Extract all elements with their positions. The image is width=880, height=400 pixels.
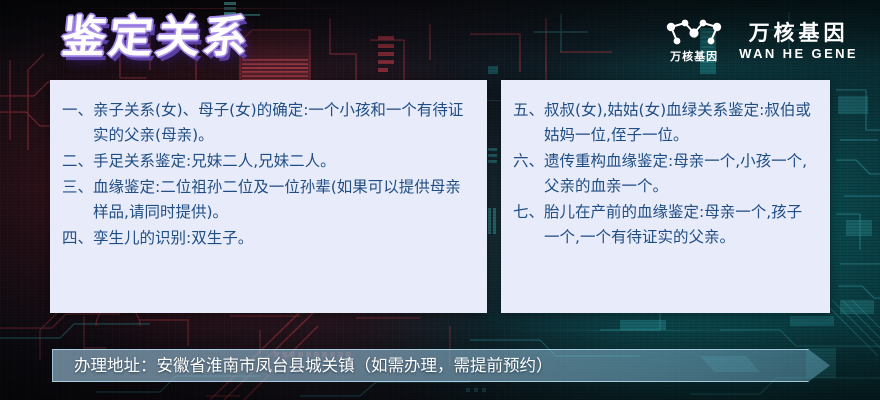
list-item-number: 四、 (62, 226, 93, 251)
list-item: 三、血缘鉴定:二位祖孙二位及一位孙辈(如果可以提供母亲样品,请同时提供)。 (62, 175, 473, 225)
content-cards: 一、亲子关系(女)、母子(女)的确定:一个小孩和一个有待证实的父亲(母亲)。二、… (50, 80, 830, 313)
logo-mark: 万核基因 (663, 18, 725, 63)
list-item-number: 一、 (62, 98, 93, 123)
list-item-number: 七、 (513, 200, 544, 225)
brand-name-cn: 万核基因 (749, 21, 849, 45)
page-title: 鉴定关系 (59, 12, 252, 64)
list-item: 六、遗传重构血缘鉴定:母亲一个,小孩一个,父亲的血亲一个。 (513, 149, 816, 199)
list-item-text: 手足关系鉴定:兄妹二人,兄妹二人。 (93, 149, 473, 174)
list-item-text: 胎儿在产前的血缘鉴定:母亲一个,孩子一个,一个有待证实的父亲。 (544, 200, 816, 250)
card-left: 一、亲子关系(女)、母子(女)的确定:一个小孩和一个有待证实的父亲(母亲)。二、… (50, 80, 487, 313)
list-item-number: 六、 (513, 149, 544, 174)
brand-logo: 万核基因 万核基因 WAN HE GENE (663, 18, 858, 63)
address-text: 办理地址：安徽省淮南市凤台县城关镇（如需办理，需提前预约） (74, 349, 553, 382)
list-item-number: 二、 (62, 149, 93, 174)
list-item-text: 亲子关系(女)、母子(女)的确定:一个小孩和一个有待证实的父亲(母亲)。 (93, 98, 473, 148)
slide-root: 鉴定关系 (0, 0, 880, 400)
list-item: 四、孪生儿的识别:双生子。 (62, 226, 473, 251)
list-item: 二、手足关系鉴定:兄妹二人,兄妹二人。 (62, 149, 473, 174)
address-banner: 办理地址：安徽省淮南市凤台县城关镇（如需办理，需提前预约） (52, 349, 830, 382)
list-item-text: 血缘鉴定:二位祖孙二位及一位孙辈(如果可以提供母亲样品,请同时提供)。 (93, 175, 473, 225)
logo-wordmark: 万核基因 WAN HE GENE (739, 21, 858, 61)
list-item-number: 三、 (62, 175, 93, 200)
card-right: 五、叔叔(女),姑姑(女)血绿关系鉴定:叔伯或姑妈一位,侄子一位。六、遗传重构血… (501, 80, 830, 313)
list-item-text: 叔叔(女),姑姑(女)血绿关系鉴定:叔伯或姑妈一位,侄子一位。 (544, 98, 816, 148)
list-item: 一、亲子关系(女)、母子(女)的确定:一个小孩和一个有待证实的父亲(母亲)。 (62, 98, 473, 148)
brand-name-en: WAN HE GENE (739, 47, 858, 61)
list-item-text: 遗传重构血缘鉴定:母亲一个,小孩一个,父亲的血亲一个。 (544, 149, 816, 199)
list-item: 五、叔叔(女),姑姑(女)血绿关系鉴定:叔伯或姑妈一位,侄子一位。 (513, 98, 816, 148)
list-item: 七、胎儿在产前的血缘鉴定:母亲一个,孩子一个,一个有待证实的父亲。 (513, 200, 816, 250)
logo-mark-text: 万核基因 (670, 51, 718, 63)
molecule-icon (663, 18, 725, 48)
list-item-text: 孪生儿的识别:双生子。 (93, 226, 473, 251)
list-item-number: 五、 (513, 98, 544, 123)
